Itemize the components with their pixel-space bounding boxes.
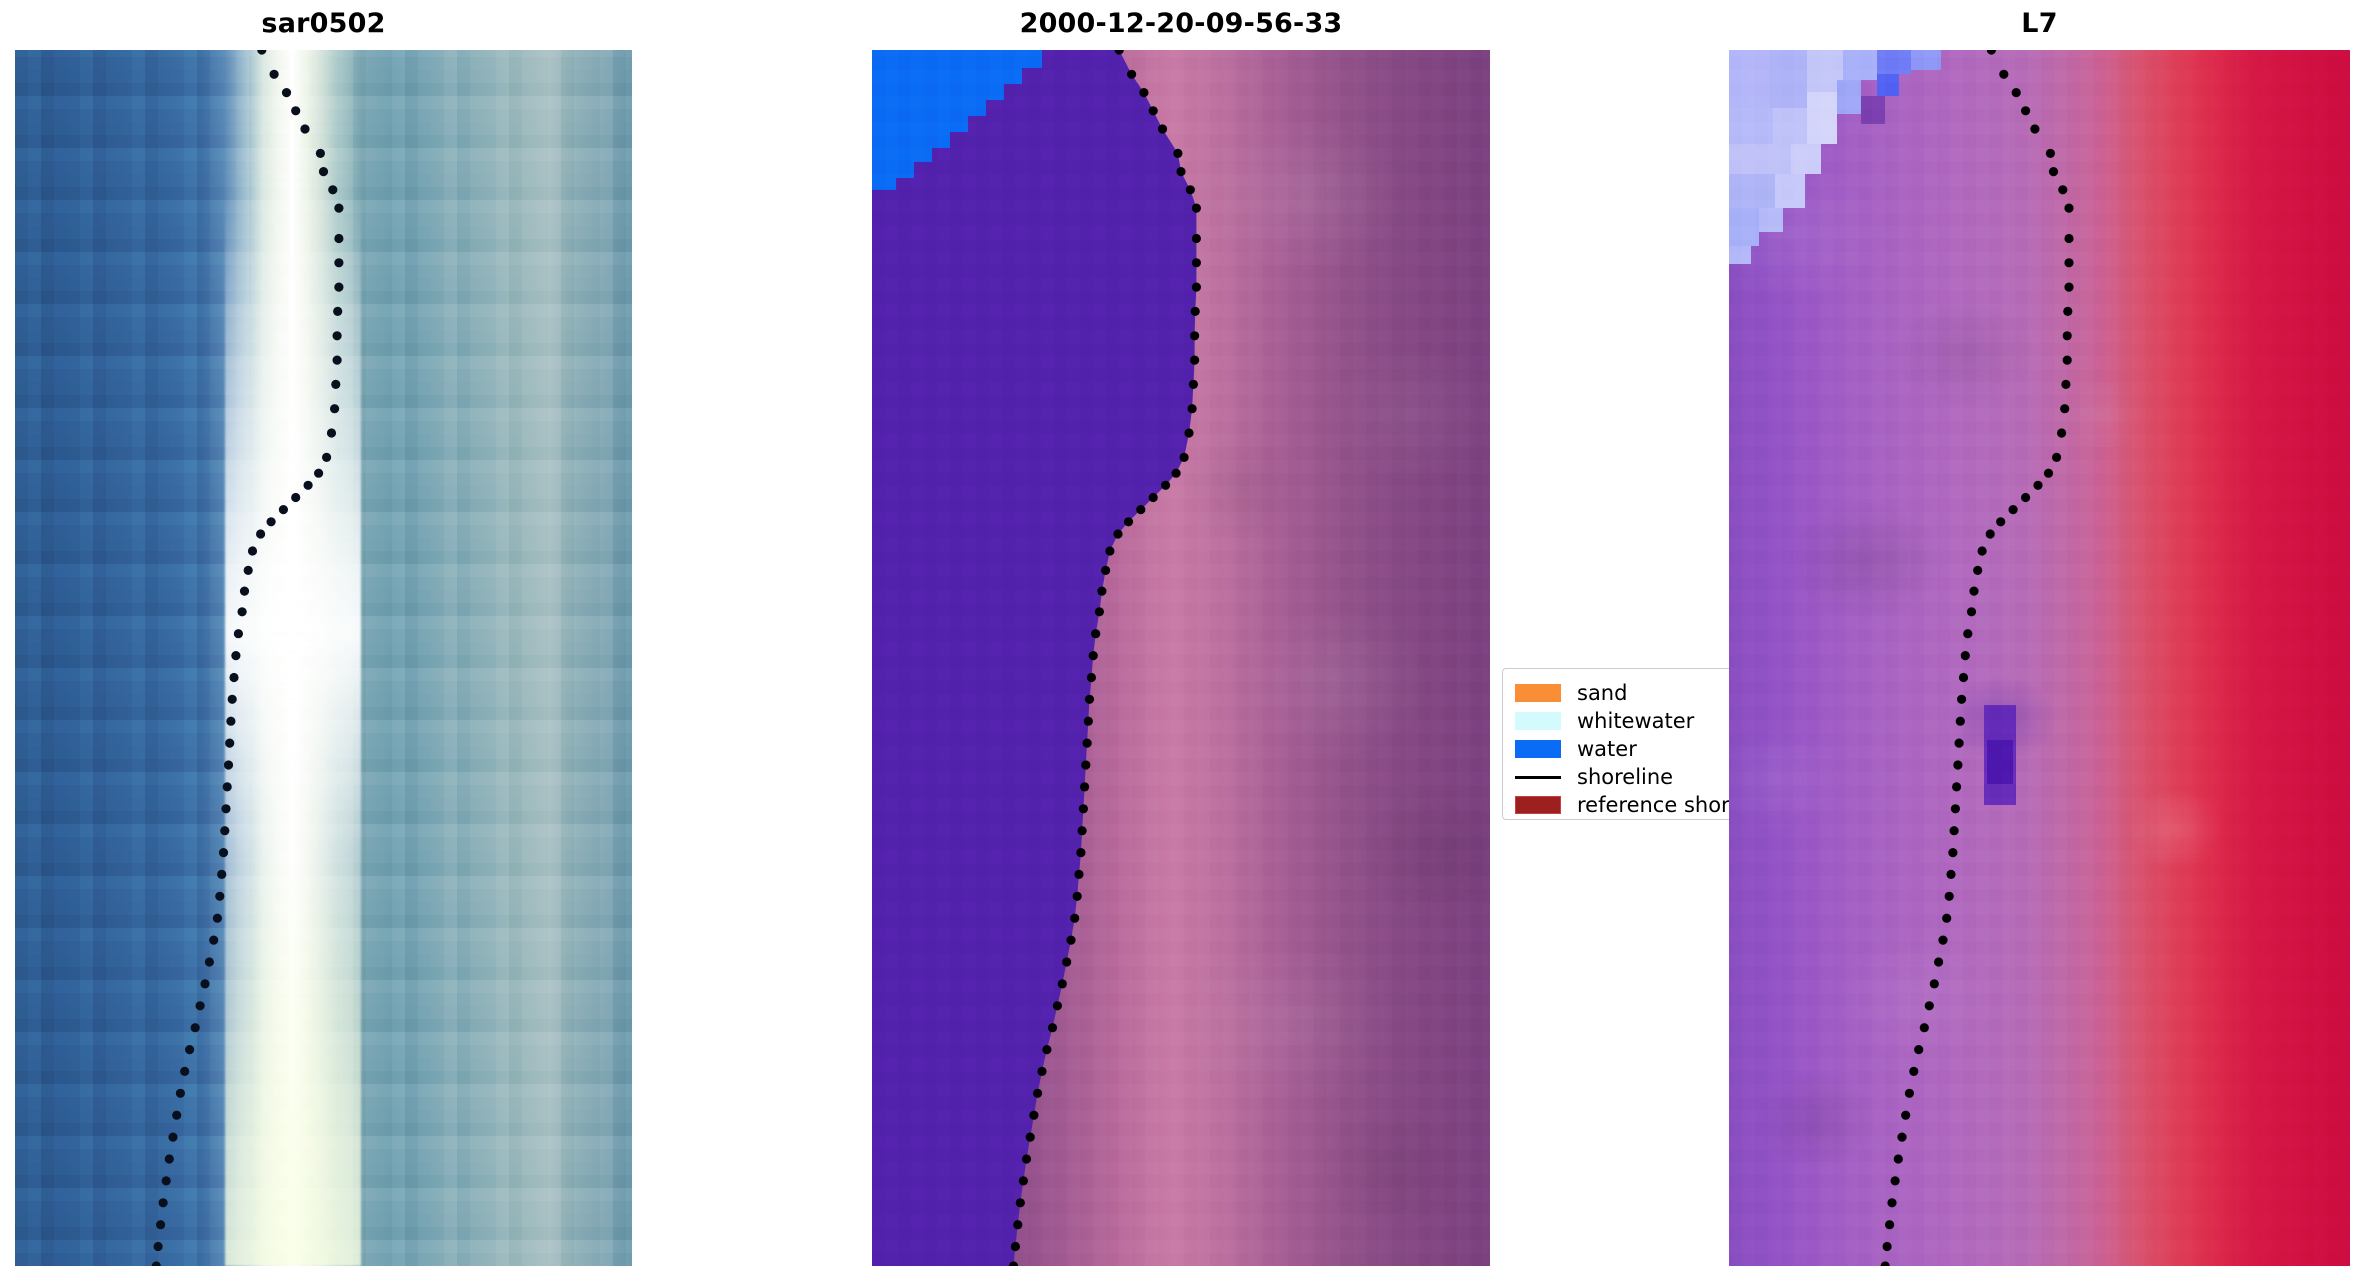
shoreline-overlay-sar0502 bbox=[15, 50, 632, 1266]
legend-label-whitewater: whitewater bbox=[1577, 711, 1694, 732]
shoreline-overlay-l7-occluder bbox=[1729, 668, 2350, 828]
panel-l7-occluder bbox=[1729, 668, 2350, 828]
shoreline-overlay-classification bbox=[872, 50, 1490, 1266]
legend-line-shoreline bbox=[1515, 776, 1561, 779]
figure-canvas: sar0502 2000-12-20-09-56-33 bbox=[0, 0, 2362, 1283]
panel-l7[interactable] bbox=[1729, 50, 2350, 1266]
panel-title-classification: 2000-12-20-09-56-33 bbox=[872, 10, 1490, 37]
legend-swatch-whitewater bbox=[1515, 712, 1561, 730]
legend-label-water: water bbox=[1577, 739, 1637, 760]
panel-title-sar0502: sar0502 bbox=[15, 10, 632, 37]
legend-swatch-sand bbox=[1515, 684, 1561, 702]
legend-swatch-reference-shore bbox=[1515, 796, 1561, 814]
panel-sar0502[interactable] bbox=[15, 50, 632, 1266]
legend-swatch-water bbox=[1515, 740, 1561, 758]
legend-label-reference-shore: reference shore bbox=[1577, 795, 1742, 816]
shoreline-overlay-l7 bbox=[1729, 50, 2350, 1266]
legend-label-shoreline: shoreline bbox=[1577, 767, 1673, 788]
legend-label-sand: sand bbox=[1577, 683, 1627, 704]
panel-classification[interactable] bbox=[872, 50, 1490, 1266]
panel-title-l7: L7 bbox=[1729, 10, 2350, 37]
